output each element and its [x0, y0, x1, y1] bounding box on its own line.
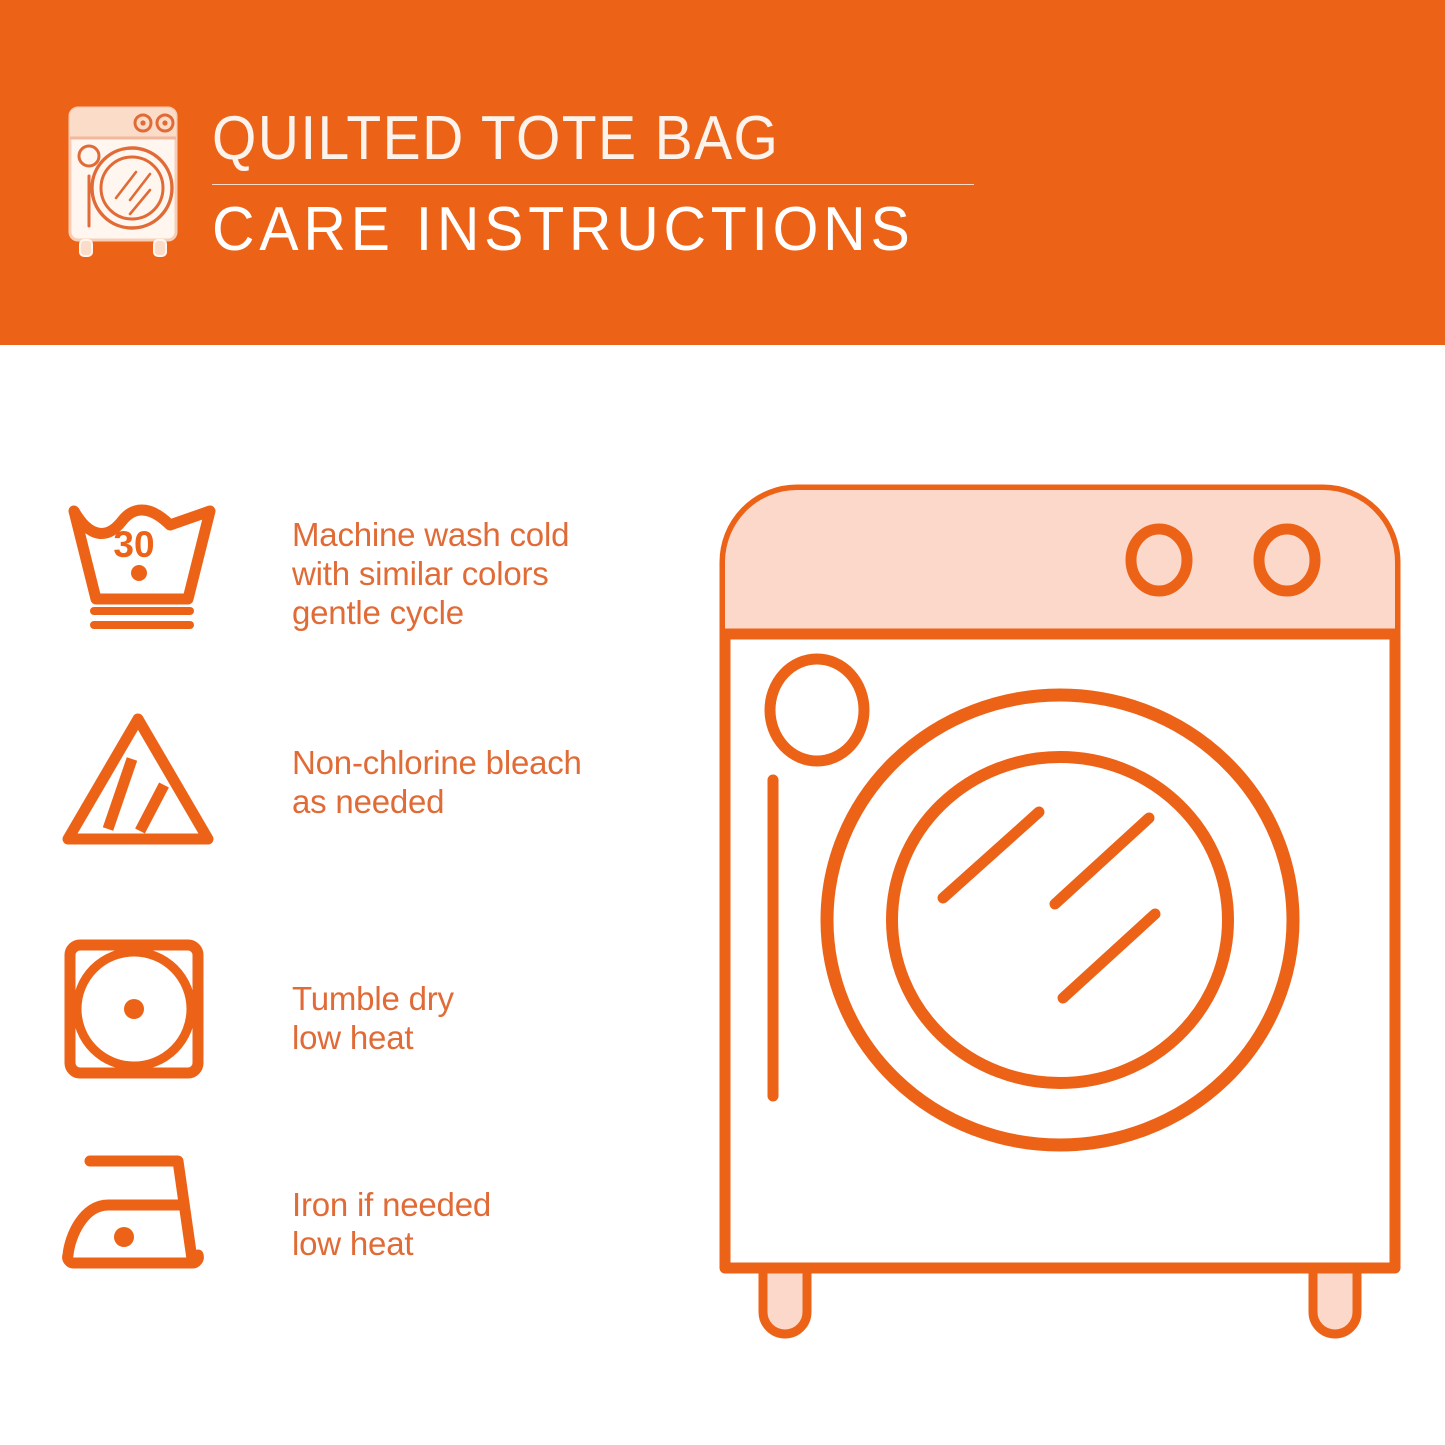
care-item: Iron if needed low heat — [60, 1147, 680, 1282]
care-item: Non-chlorine bleach as needed — [60, 707, 680, 858]
title-divider — [212, 184, 974, 185]
care-instruction-list: 30 Machine wash cold with similar colors… — [0, 345, 700, 1445]
non-chlorine-bleach-triangle-icon — [60, 707, 224, 858]
care-symbol-slot — [60, 707, 240, 858]
care-symbol-slot — [60, 937, 240, 1088]
wash-temperature-value: 30 — [113, 524, 154, 565]
header-title-block: QUILTED TOTE BAG CARE INSTRUCTIONS — [212, 104, 1002, 267]
wash-tub-30-icon: 30 — [60, 495, 224, 640]
page-title: QUILTED TOTE BAG — [212, 104, 939, 174]
care-instructions-page: QUILTED TOTE BAG CARE INSTRUCTIONS 30 — [0, 0, 1445, 1445]
care-symbol-slot — [60, 1147, 240, 1282]
washing-machine-illustration — [715, 480, 1405, 1370]
care-item-label: Tumble dry low heat — [240, 937, 454, 1057]
washing-machine-icon — [62, 100, 184, 260]
iron-low-heat-icon — [60, 1147, 224, 1282]
care-symbol-slot: 30 — [60, 495, 240, 640]
care-item-label: Iron if needed low heat — [240, 1147, 491, 1263]
machine-control-panel — [725, 490, 1395, 634]
care-item: Tumble dry low heat — [60, 937, 680, 1088]
page-subtitle: CARE INSTRUCTIONS — [212, 193, 963, 267]
care-item: 30 Machine wash cold with similar colors… — [60, 495, 680, 640]
care-item-label: Machine wash cold with similar colors ge… — [240, 495, 569, 632]
header-banner: QUILTED TOTE BAG CARE INSTRUCTIONS — [0, 0, 1445, 345]
care-item-label: Non-chlorine bleach as needed — [240, 707, 582, 821]
tumble-dry-low-icon — [60, 937, 224, 1088]
